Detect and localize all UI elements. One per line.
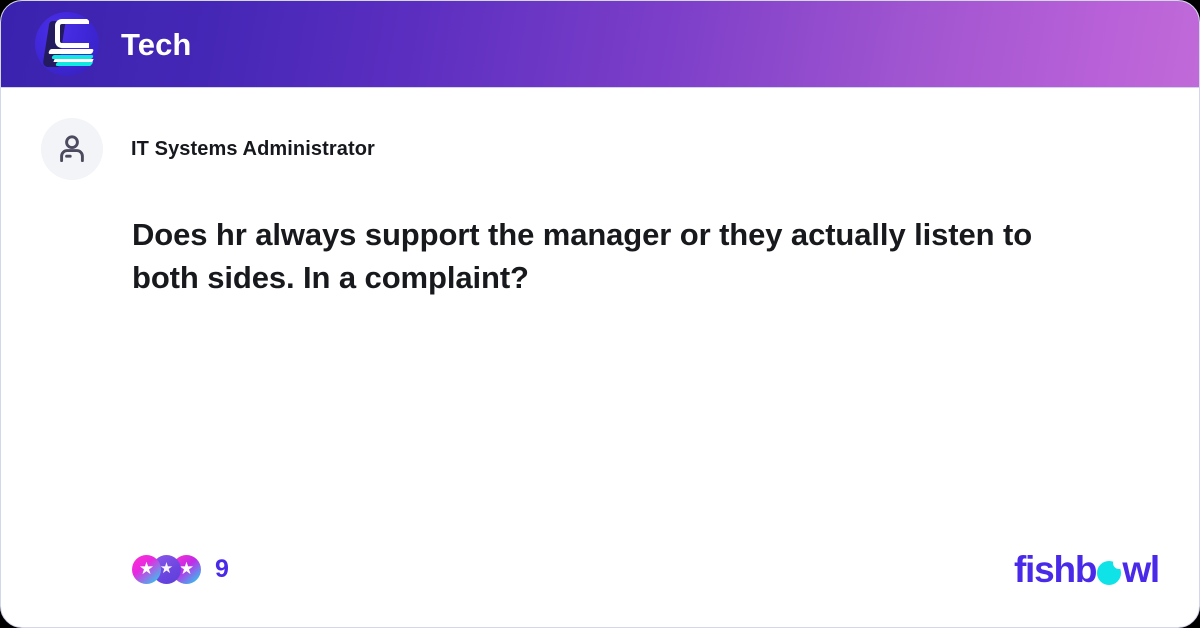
author-row: IT Systems Administrator: [41, 118, 1159, 180]
reaction-count: 9: [215, 557, 229, 582]
star-glyph: ★: [179, 560, 194, 577]
logo-base-bar: [48, 49, 94, 54]
bowl-o-icon: [1097, 561, 1121, 585]
card-body: IT Systems Administrator Does hr always …: [1, 88, 1199, 627]
person-icon: [55, 132, 89, 166]
author-name: IT Systems Administrator: [131, 138, 375, 161]
bowl-title: Tech: [121, 29, 191, 60]
star-glyph: ★: [160, 561, 173, 576]
star-reaction-icon-1[interactable]: ★: [132, 555, 161, 584]
card-footer: ★ ★ ★ 9 fishb wl: [1, 547, 1199, 591]
star-glyph: ★: [139, 560, 154, 577]
wordmark-part-1: fishb: [1014, 551, 1096, 588]
post-question-text: Does hr always support the manager or th…: [132, 213, 1107, 299]
wordmark-part-2: wl: [1122, 551, 1159, 588]
card-header: Tech: [1, 1, 1199, 88]
fishbowl-wordmark: fishb wl: [1014, 551, 1159, 588]
logo-stripe-cyan-2: [55, 62, 94, 66]
avatar: [41, 118, 103, 180]
reaction-icon-stack[interactable]: ★ ★ ★: [132, 555, 201, 584]
fishbowl-circle-logo-icon: [35, 12, 99, 76]
reactions-group[interactable]: ★ ★ ★ 9: [132, 555, 229, 584]
post-card: Tech IT Systems Administrator Does hr al…: [0, 0, 1200, 628]
logo-screen-shape: [55, 19, 89, 48]
